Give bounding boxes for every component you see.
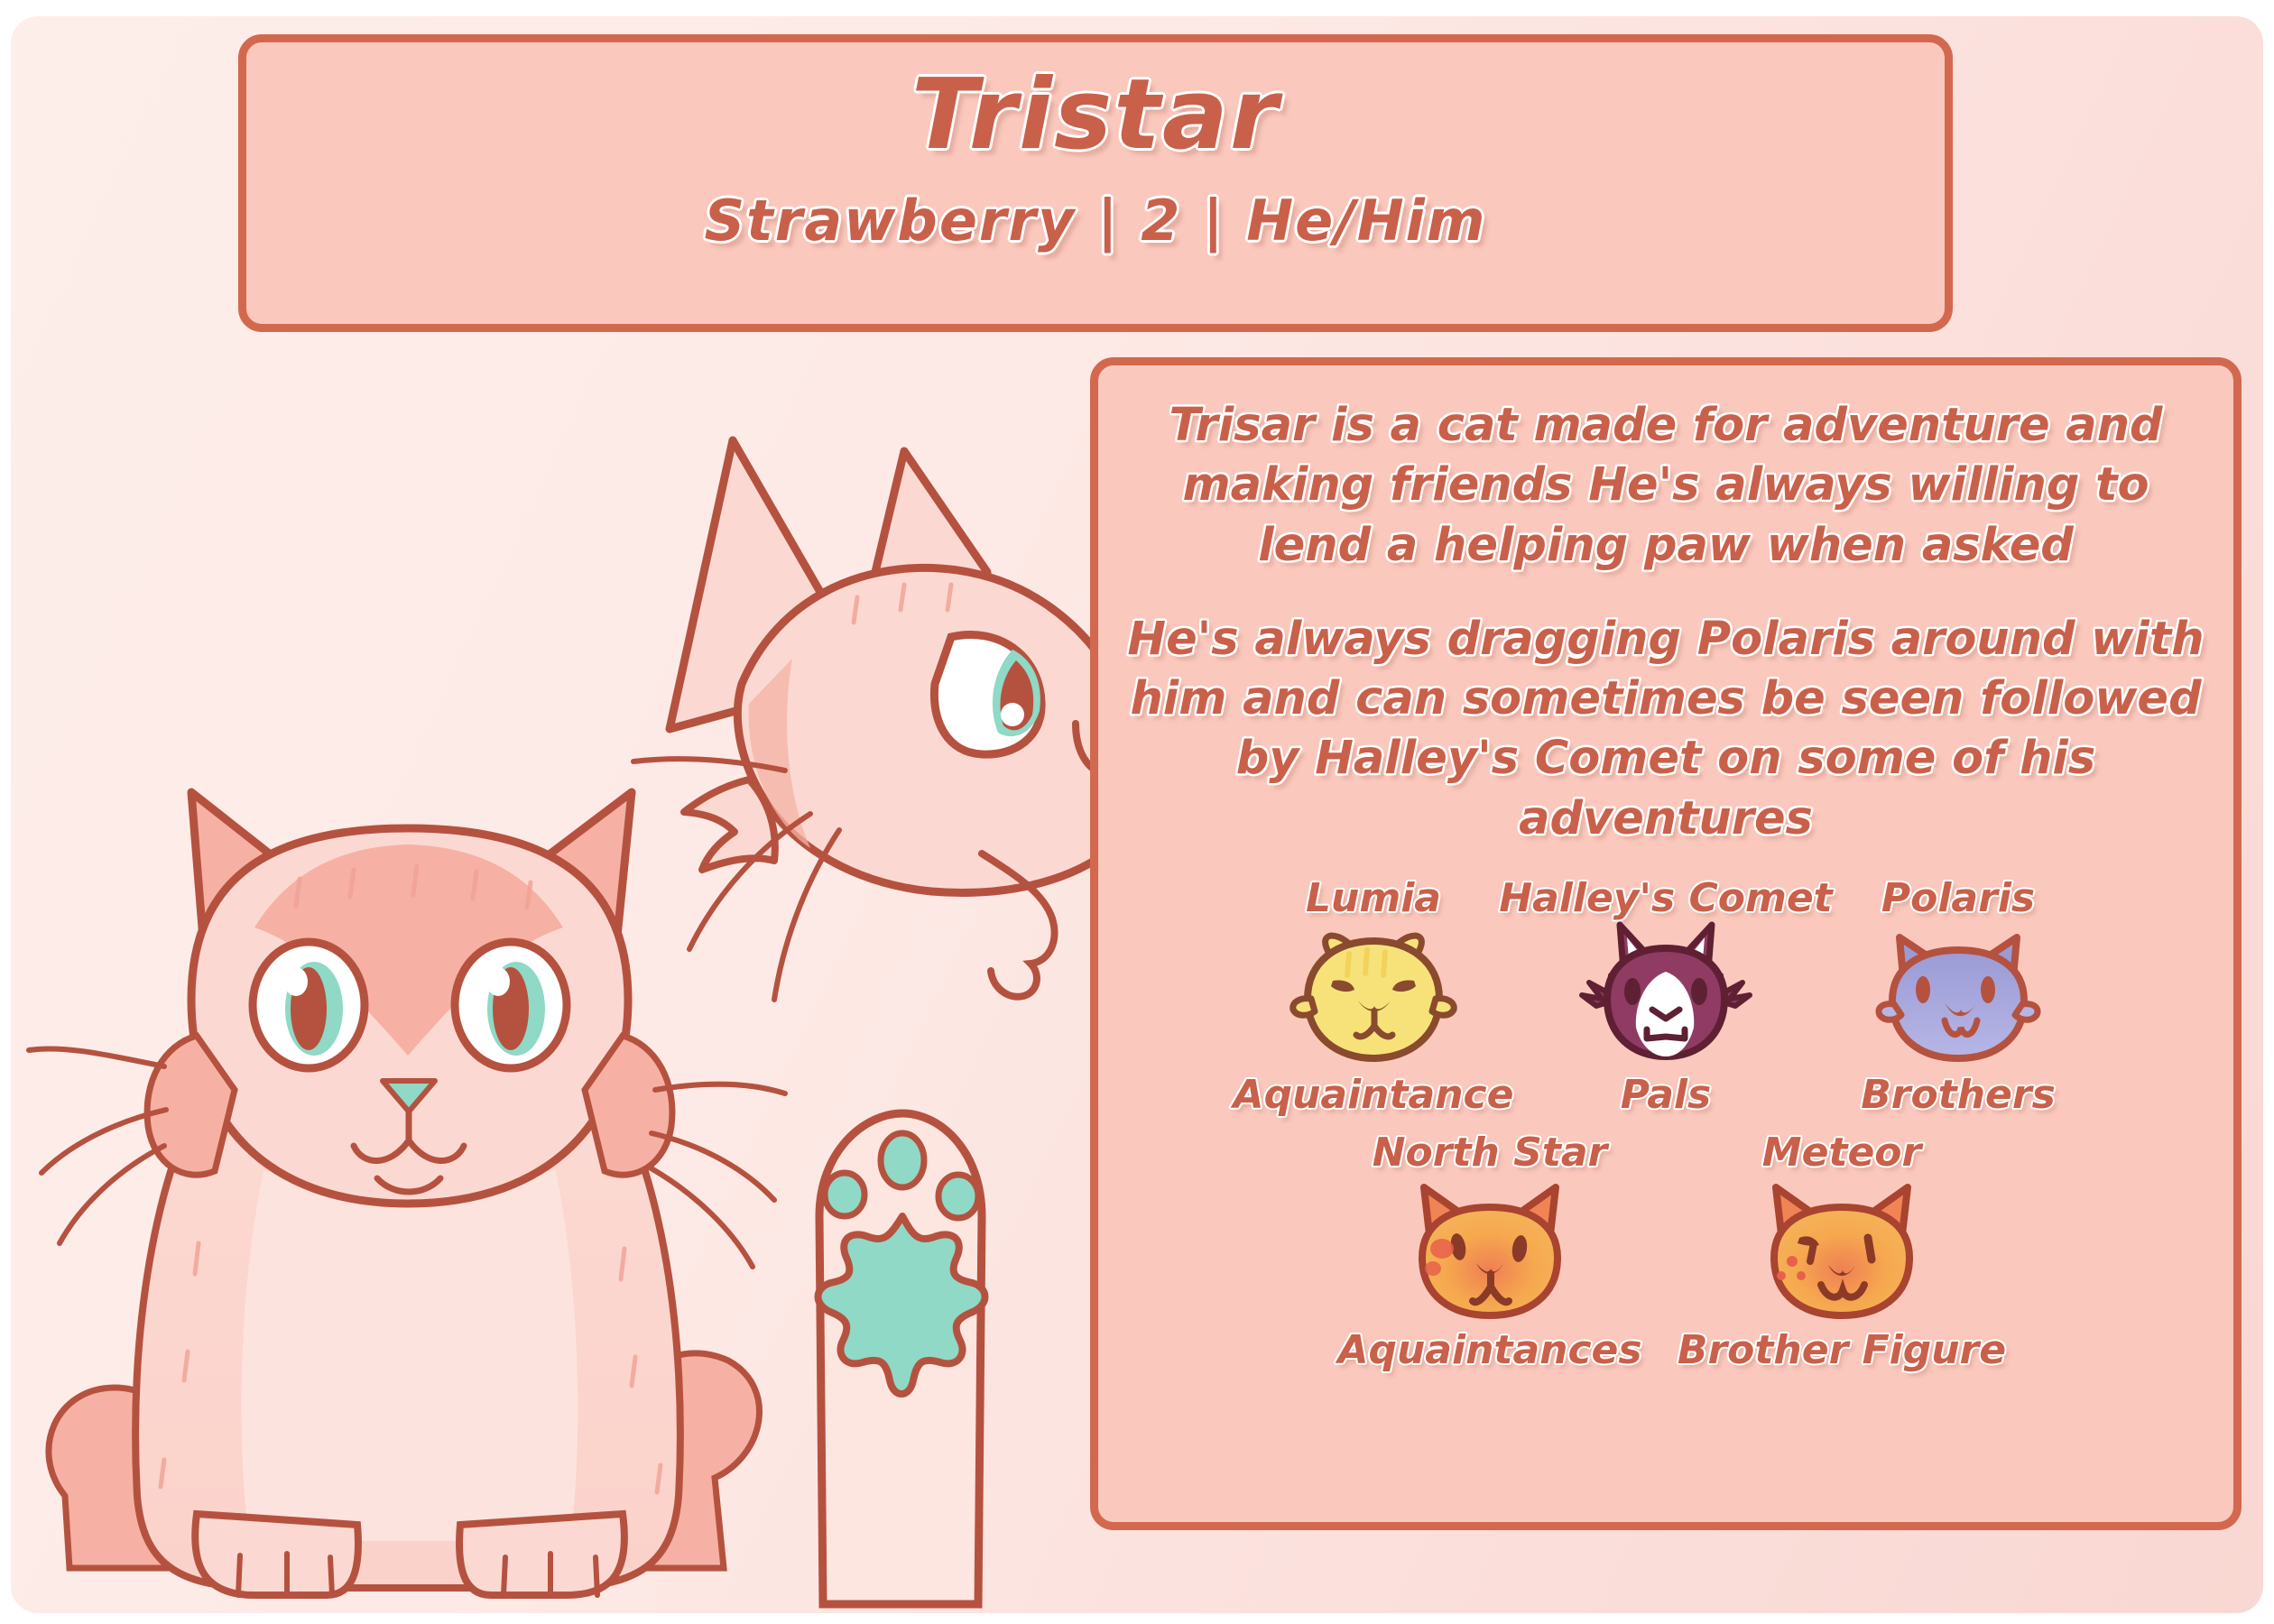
eye-right — [455, 942, 567, 1068]
cat-head-icon-north-star — [1404, 1178, 1576, 1330]
relationship-label: Aquaintances — [1337, 1330, 1641, 1371]
profile-cheek-fluff — [684, 780, 775, 870]
toe-bean-left — [825, 1173, 864, 1216]
relationship-card-lumia[interactable]: Lumia Aquaintance — [1238, 878, 1509, 1116]
paw-pad-marking-illustration — [787, 1099, 1012, 1604]
character-name: Tristar — [246, 64, 1945, 166]
relationship-label: Brother Figure — [1678, 1330, 2006, 1371]
description-text-block: Trisar is a cat made for adventure and m… — [1123, 396, 2208, 849]
cat-head-icon-halleys-comet — [1580, 923, 1752, 1075]
relationship-card-meteor[interactable]: Meteor — [1706, 1132, 1977, 1370]
relationship-name: North Star — [1373, 1132, 1608, 1174]
title-card: Tristar Strawberry | 2 | He/Him — [238, 34, 1953, 332]
toe-bean-right — [938, 1175, 978, 1218]
relationship-name: Halley's Comet — [1499, 878, 1832, 919]
relationship-label: Pals — [1621, 1075, 1711, 1116]
description-paragraph-2: He's always dragging Polaris around with… — [1123, 610, 2208, 849]
relationship-card-halleys-comet[interactable]: Halley's Comet Pals — [1530, 878, 1801, 1116]
relationship-name: Meteor — [1762, 1132, 1921, 1174]
cat-head-icon-polaris — [1872, 923, 2044, 1075]
description-paragraph-1: Trisar is a cat made for adventure and m… — [1123, 396, 2208, 576]
relationship-label: Brothers — [1861, 1075, 2056, 1116]
character-subtitle: Strawberry | 2 | He/Him — [246, 191, 1945, 250]
paw-right — [459, 1514, 624, 1595]
cat-head-icon-lumia — [1288, 923, 1459, 1075]
relationship-row-2: North Star — [1123, 1132, 2208, 1370]
eye-left — [253, 942, 365, 1068]
relationship-row-1: Lumia Aquaintance — [1123, 878, 2208, 1116]
description-card: Trisar is a cat made for adventure and m… — [1090, 357, 2242, 1530]
relationship-card-north-star[interactable]: North Star — [1354, 1132, 1625, 1370]
relationship-name: Lumia — [1306, 878, 1441, 919]
toe-bean-center — [881, 1133, 924, 1187]
relationship-label: Aquaintance — [1234, 1075, 1514, 1116]
relationship-card-polaris[interactable]: Polaris Brot — [1823, 878, 2094, 1116]
cat-head-icon-meteor — [1756, 1178, 1927, 1330]
reference-sheet-canvas: Tristar Strawberry | 2 | He/Him — [11, 16, 2263, 1613]
relationship-name: Polaris — [1881, 878, 2035, 919]
